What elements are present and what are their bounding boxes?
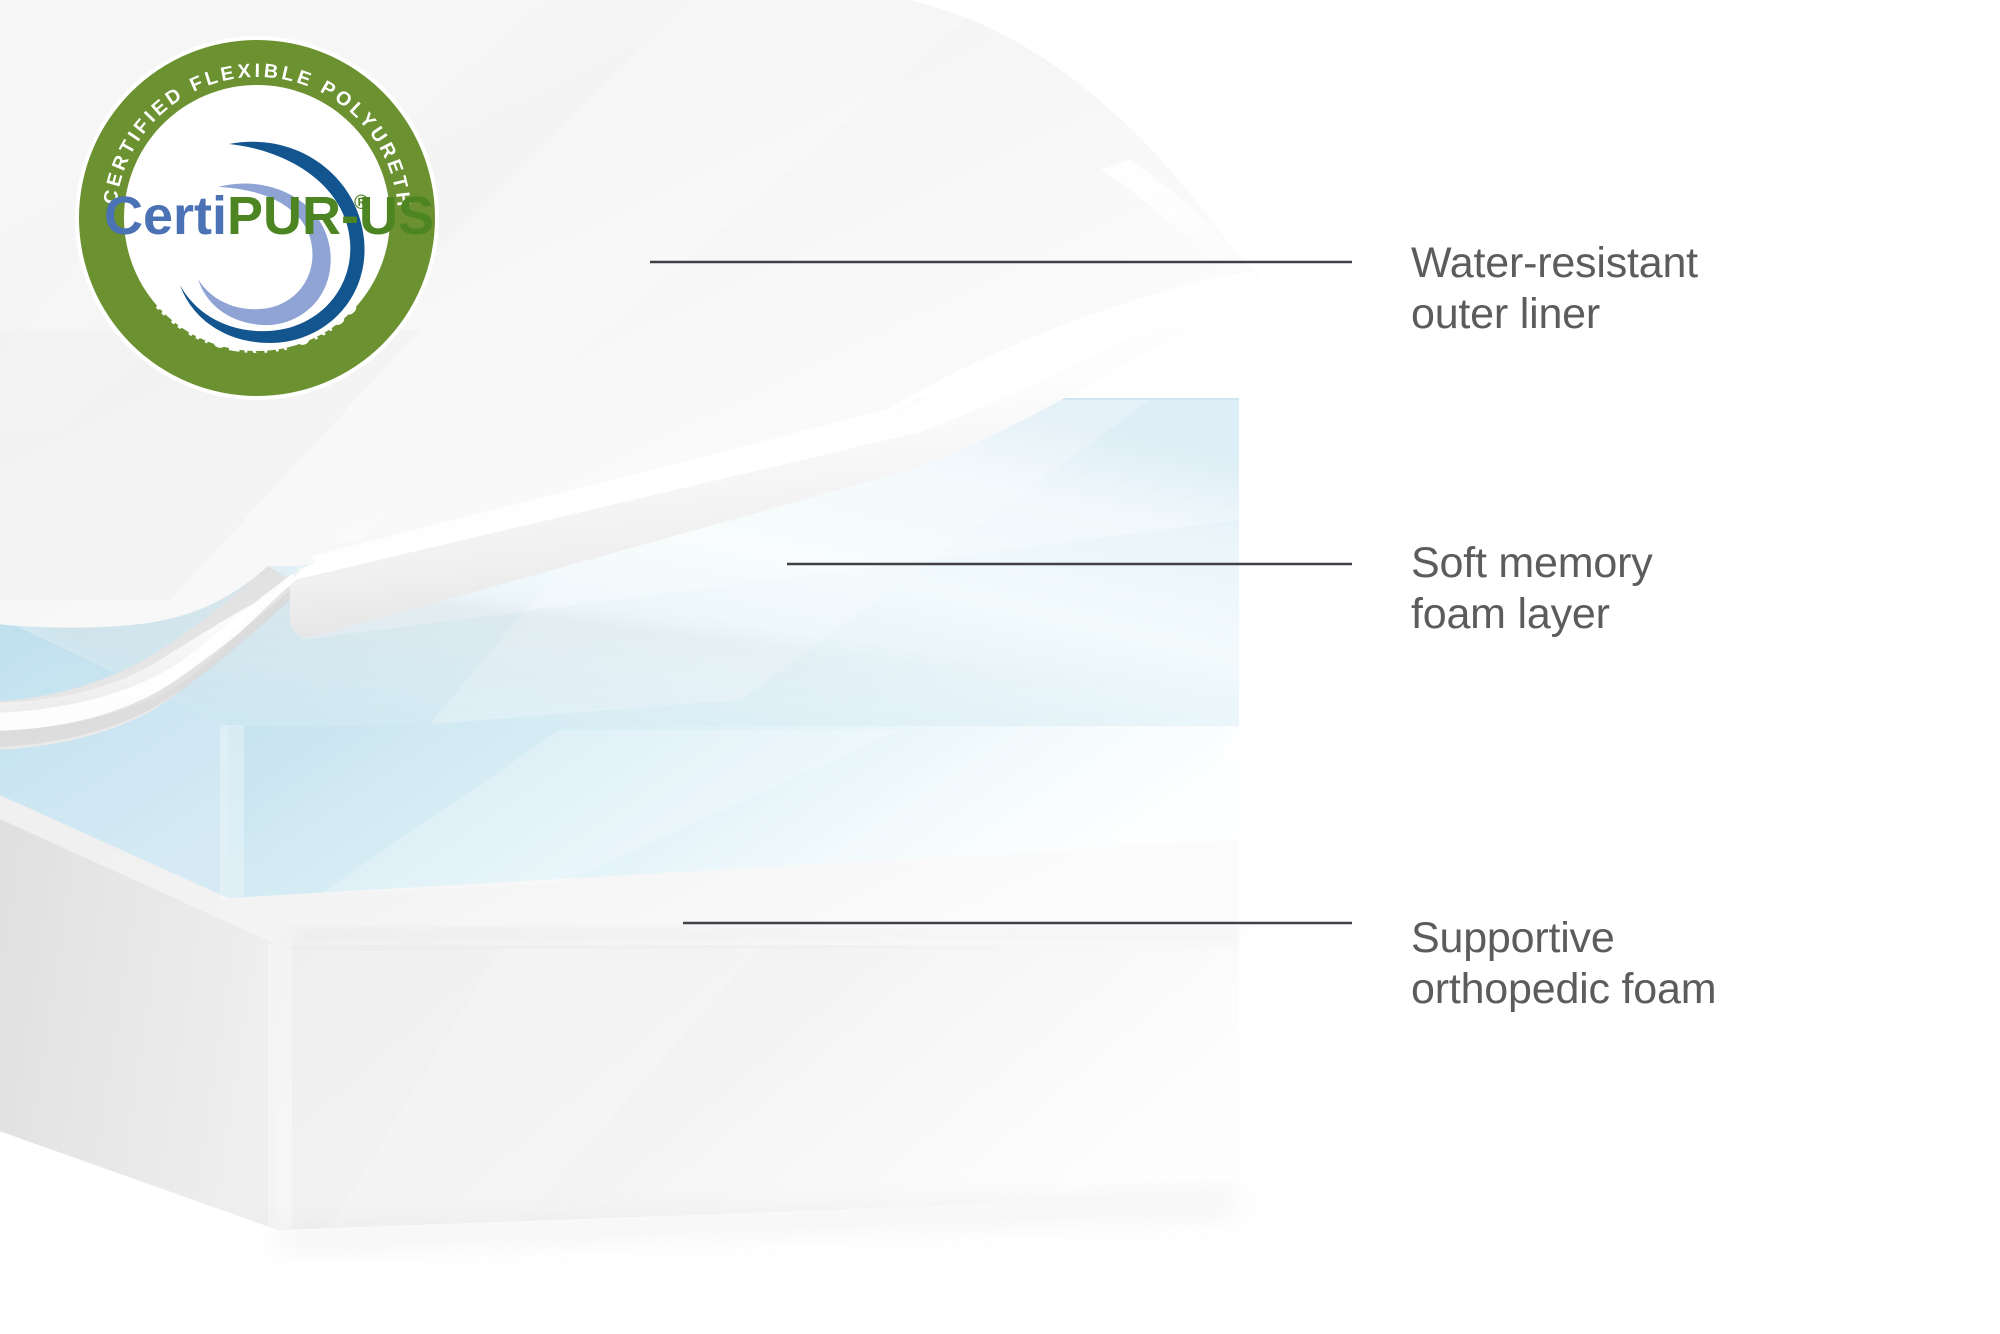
diagram-canvas: Water-resistant outer liner Soft memory … [0,0,2000,1334]
certipur-us-seal-svg: CONTAINS CERTIFIED FLEXIBLE POLYURETHANE… [66,27,448,409]
seal-wordmark: CertiPUR-US [104,186,434,246]
label-outer-liner: Water-resistant outer liner [1411,238,1698,339]
label-orthopedic-foam: Supportive orthopedic foam [1411,913,1716,1014]
label-memory-foam: Soft memory foam layer [1411,538,1653,639]
certipur-us-seal: CONTAINS CERTIFIED FLEXIBLE POLYURETHANE… [66,27,448,409]
seal-registered-mark: ® [354,192,369,214]
